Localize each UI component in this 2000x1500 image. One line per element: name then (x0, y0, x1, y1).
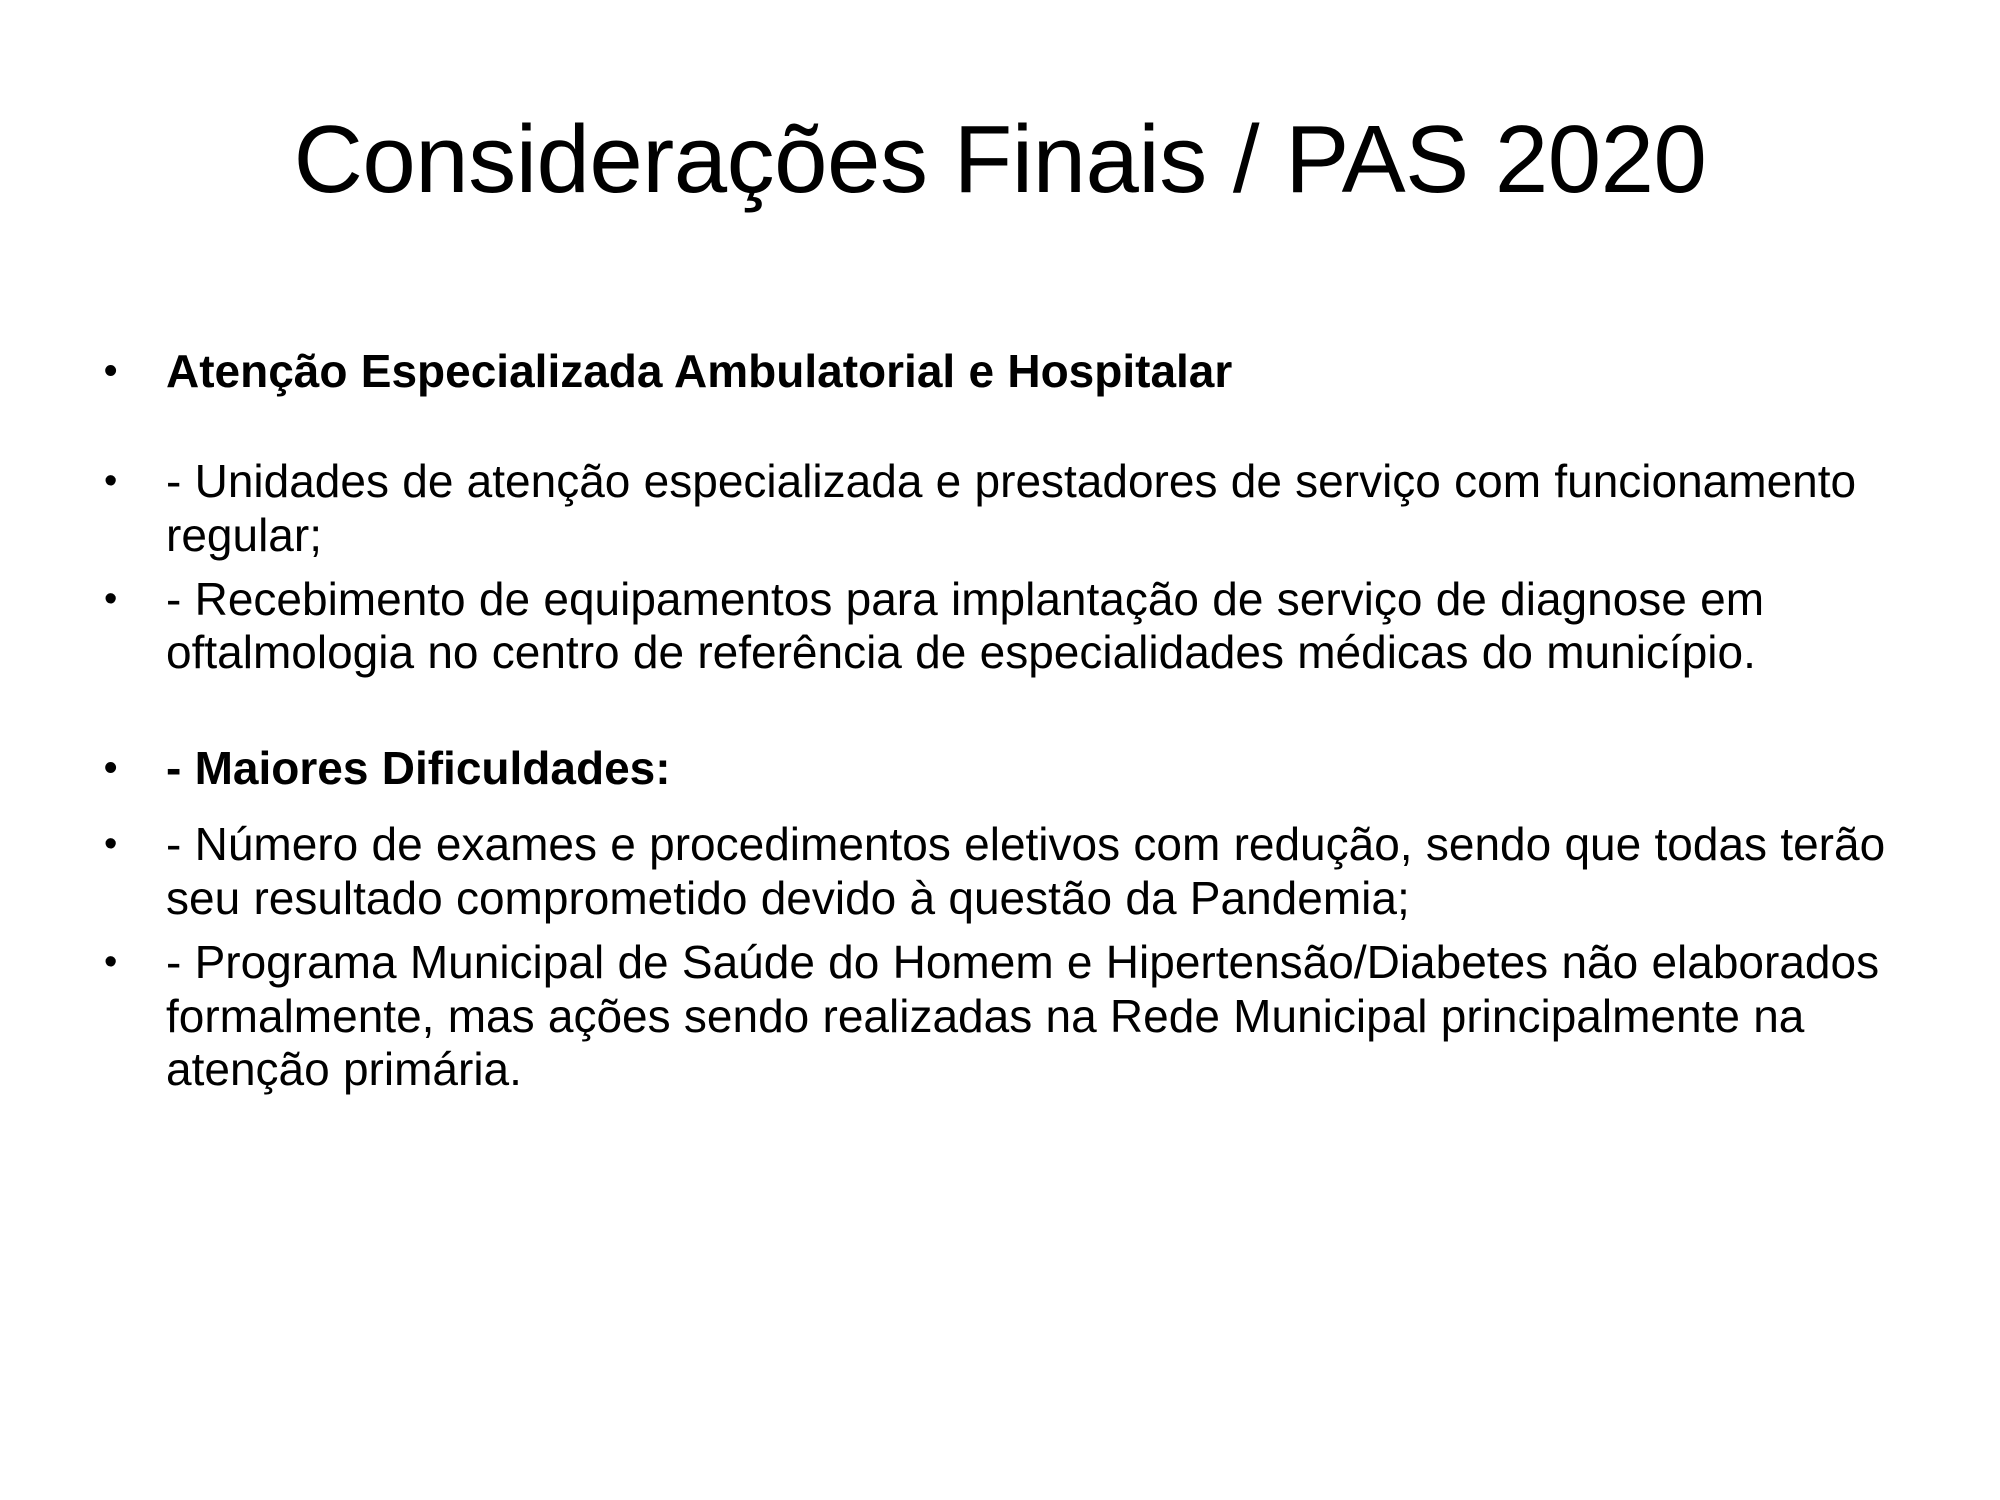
bullet-text: Atenção Especializada Ambulatorial e Hos… (166, 345, 1926, 399)
spacer (96, 796, 1926, 818)
bullet-text: - Recebimento de equipamentos para impla… (166, 573, 1926, 681)
bullet-marker-icon: • (96, 936, 166, 990)
bullet-item-numero-exames: • - Número de exames e procedimentos ele… (96, 818, 1926, 926)
spacer (96, 399, 1926, 455)
bullet-item-maiores-dificuldades: • - Maiores Dificuldades: (96, 742, 1926, 796)
bullet-text: - Número de exames e procedimentos eleti… (166, 818, 1926, 926)
bullet-item-unidades-atencao: • - Unidades de atenção especializada e … (96, 455, 1926, 563)
bullet-marker-icon: • (96, 345, 166, 399)
slide-canvas: Considerações Finais / PAS 2020 • Atençã… (0, 0, 2000, 1500)
spacer (96, 680, 1926, 742)
bullet-text: - Maiores Dificuldades: (166, 742, 1926, 796)
bullet-marker-icon: • (96, 742, 166, 796)
bullet-marker-icon: • (96, 455, 166, 509)
spacer (96, 926, 1926, 936)
bullet-item-atencao-especializada: • Atenção Especializada Ambulatorial e H… (96, 345, 1926, 399)
spacer (96, 563, 1926, 573)
bullet-marker-icon: • (96, 573, 166, 627)
bullet-text: - Programa Municipal de Saúde do Homem e… (166, 936, 1926, 1097)
bullet-marker-icon: • (96, 818, 166, 872)
page-title: Considerações Finais / PAS 2020 (0, 110, 2000, 211)
slide-body-content: • Atenção Especializada Ambulatorial e H… (96, 345, 1926, 1097)
bullet-item-recebimento-equipamentos: • - Recebimento de equipamentos para imp… (96, 573, 1926, 681)
bullet-text: - Unidades de atenção especializada e pr… (166, 455, 1926, 563)
bullet-item-programa-municipal: • - Programa Municipal de Saúde do Homem… (96, 936, 1926, 1097)
